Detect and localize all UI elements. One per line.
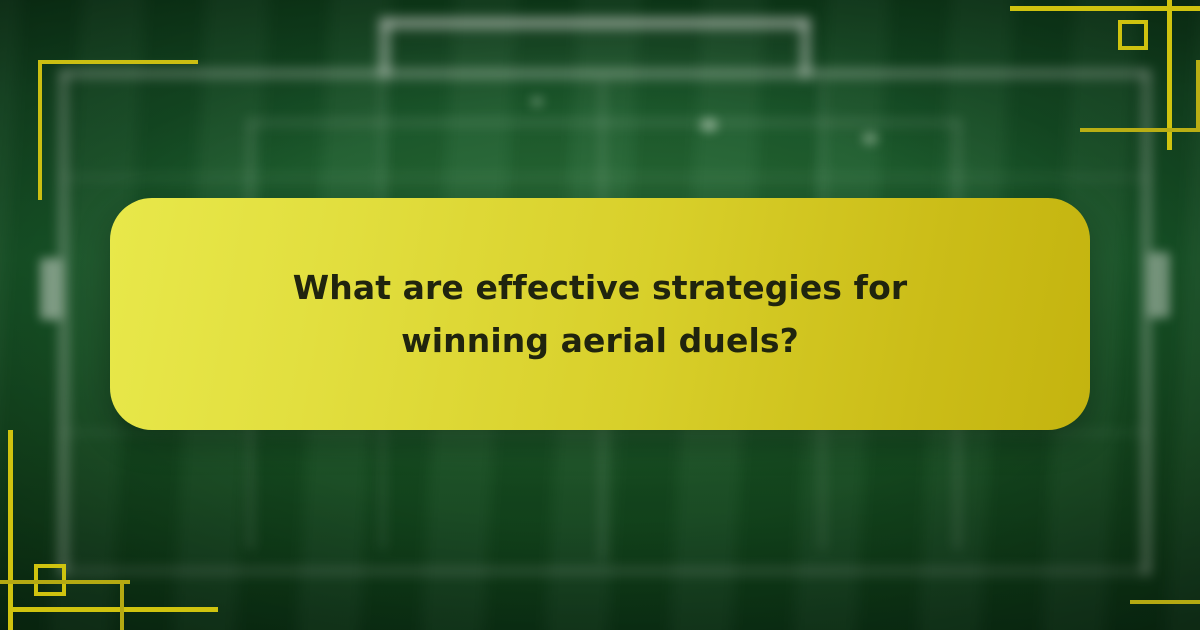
ornament-top-right-vertical-2	[1196, 60, 1200, 130]
ornament-bottom-left-horizontal	[8, 607, 218, 612]
ornament-top-right	[990, 0, 1200, 170]
question-card: What are effective strategies for winnin…	[110, 198, 1090, 430]
ornament-top-right-square-icon	[1118, 20, 1148, 50]
ornament-top-left-horizontal	[38, 60, 198, 64]
ornament-bottom-right-tick	[1130, 600, 1200, 604]
ornament-bottom-left-vertical-2	[120, 584, 124, 630]
ornament-top-right-horizontal-2	[1080, 128, 1200, 132]
ornament-bottom-left-horizontal-2	[0, 580, 130, 584]
ornament-bottom-left-vertical	[8, 430, 13, 630]
question-text: What are effective strategies for winnin…	[220, 261, 980, 368]
ornament-bottom-right	[1110, 540, 1200, 630]
ornament-top-left	[0, 0, 200, 200]
poster-canvas: What are effective strategies for winnin…	[0, 0, 1200, 630]
ornament-bottom-left	[0, 400, 230, 630]
ornament-top-left-vertical	[38, 60, 42, 200]
